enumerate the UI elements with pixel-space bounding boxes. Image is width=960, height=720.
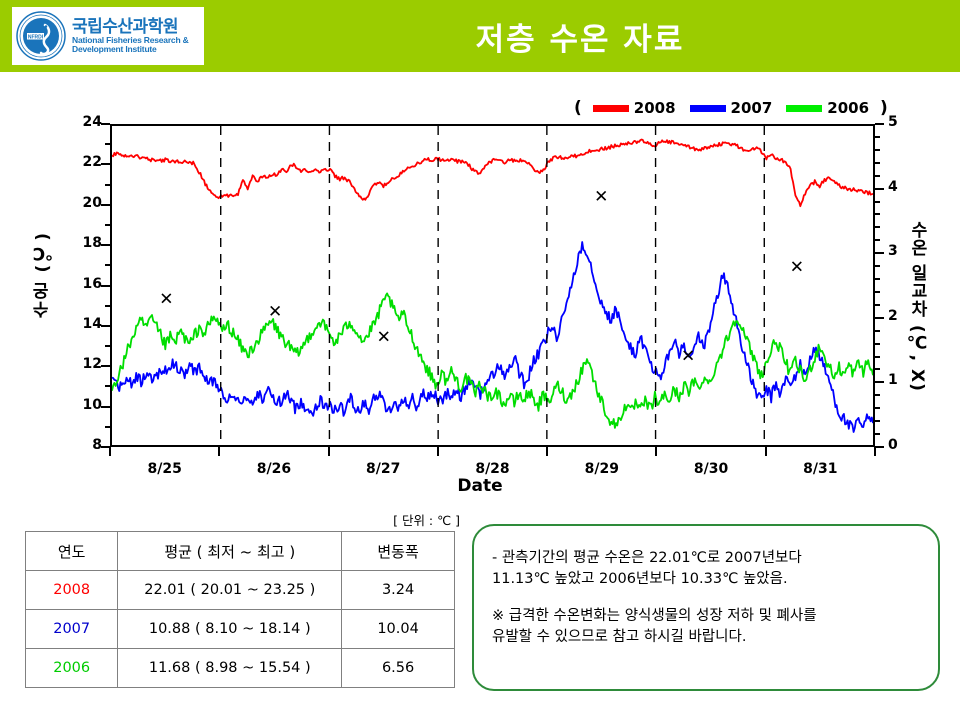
chart: ( 2008 2007 2006 ) 수온 (℃) 수온 일교차 (℃, X) … (0, 76, 960, 506)
legend-open-paren: ( (574, 98, 582, 118)
x-tick-8/25: 8/25 (140, 461, 190, 477)
axis-tick (101, 325, 110, 327)
axis-tick (875, 123, 884, 125)
axis-tick (101, 244, 110, 246)
axis-tick (105, 224, 110, 226)
axis-tick (875, 149, 880, 151)
axis-tick (875, 291, 880, 293)
axis-tick (875, 213, 880, 215)
chart-legend: ( 2008 2007 2006 ) (570, 98, 892, 118)
y-tick-left-16: 16 (72, 276, 102, 292)
legend-swatch-2008 (593, 105, 629, 112)
axis-tick (875, 446, 884, 448)
daily-range-marker: ✕ (268, 302, 282, 322)
page-title: 저층 수온 자료 (230, 0, 930, 72)
x-tick-8/27: 8/27 (358, 461, 408, 477)
x-tick-8/26: 8/26 (249, 461, 299, 477)
table-header-year: 연도 (26, 532, 118, 571)
table-unit-note: [ 단위 : ℃ ] (250, 510, 460, 529)
note-paragraph-2: ※ 급격한 수온변화는 양식생물의 성장 저하 및 폐사를 유발할 수 있으므로… (492, 606, 924, 648)
axis-tick (105, 143, 110, 145)
daily-range-marker: ✕ (594, 187, 608, 207)
legend-label-2008: 2008 (634, 99, 676, 117)
table-header-mean: 평균 ( 최저 ~ 최고 ) (118, 532, 342, 571)
summary-table: 연도 평균 ( 최저 ~ 최고 ) 변동폭 200822.01 ( 20.01 … (25, 531, 455, 688)
legend-item-2008: 2008 (593, 99, 676, 117)
daily-range-marker: ✕ (790, 257, 804, 277)
table-row: 200822.01 ( 20.01 ~ 23.25 )3.24 (26, 571, 455, 610)
y-axis-label-right: 수온 일교차 (℃, X) (905, 221, 930, 392)
logo: NFRDI 국립수산과학원 National Fisheries Researc… (12, 7, 204, 65)
daily-range-marker: ✕ (159, 289, 173, 309)
axis-tick (875, 317, 884, 319)
table-cell-year: 2008 (26, 571, 118, 610)
axis-tick (875, 433, 880, 435)
axis-tick (875, 407, 880, 409)
table-cell-variation: 10.04 (342, 610, 455, 649)
note-box: - 관측기간의 평균 수온은 22.01℃로 2007년보다 11.13℃ 높았… (472, 524, 940, 691)
table-cell-year: 2006 (26, 649, 118, 688)
y-tick-left-14: 14 (72, 316, 102, 332)
y-tick-left-10: 10 (72, 397, 102, 413)
table-row: 200611.68 ( 8.98 ~ 15.54 )6.56 (26, 649, 455, 688)
axis-tick (875, 162, 880, 164)
axis-tick (875, 136, 880, 138)
axis-tick (101, 123, 110, 125)
x-axis-label: Date (0, 476, 960, 496)
legend-label-2007: 2007 (731, 99, 773, 117)
legend-item-2007: 2007 (690, 99, 773, 117)
axis-tick (875, 188, 884, 190)
y-tick-right-1: 1 (888, 372, 908, 388)
axis-tick (875, 330, 880, 332)
daily-range-marker: ✕ (377, 328, 391, 348)
axis-tick (218, 447, 220, 456)
axis-tick (875, 175, 880, 177)
table-cell-mean-range: 11.68 ( 8.98 ~ 15.54 ) (118, 649, 342, 688)
axis-tick (875, 226, 880, 228)
axis-tick (875, 356, 880, 358)
axis-tick (109, 447, 111, 456)
axis-tick (546, 447, 548, 456)
y-tick-right-2: 2 (888, 308, 908, 324)
axis-tick (105, 184, 110, 186)
legend-swatch-2007 (690, 105, 726, 112)
x-tick-8/30: 8/30 (686, 461, 736, 477)
plot-frame: ✕✕✕✕✕✕ (110, 124, 875, 447)
x-tick-8/31: 8/31 (795, 461, 845, 477)
series-line-2006 (112, 293, 873, 428)
y-tick-left-8: 8 (72, 437, 102, 453)
daily-range-marker: ✕ (681, 347, 695, 367)
y-tick-left-22: 22 (72, 154, 102, 170)
axis-tick (875, 201, 880, 203)
table-cell-mean-range: 22.01 ( 20.01 ~ 23.25 ) (118, 571, 342, 610)
x-tick-8/28: 8/28 (468, 461, 518, 477)
series-line-2007 (112, 242, 873, 432)
axis-tick (101, 406, 110, 408)
y-tick-right-4: 4 (888, 179, 908, 195)
axis-tick (875, 278, 880, 280)
table-cell-mean-range: 10.88 ( 8.10 ~ 18.14 ) (118, 610, 342, 649)
axis-tick (875, 343, 880, 345)
legend-label-2006: 2006 (827, 99, 869, 117)
axis-tick (101, 365, 110, 367)
svg-text:NFRDI: NFRDI (28, 34, 44, 40)
legend-swatch-2006 (786, 105, 822, 112)
nfrdi-emblem-icon: NFRDI (16, 11, 66, 61)
axis-tick (875, 381, 884, 383)
axis-tick (875, 368, 880, 370)
note-paragraph-1: - 관측기간의 평균 수온은 22.01℃로 2007년보다 11.13℃ 높았… (492, 548, 924, 590)
plot-canvas: ✕✕✕✕✕✕ (112, 126, 873, 445)
axis-tick (875, 394, 880, 396)
legend-close-paren: ) (880, 98, 888, 118)
x-tick-8/29: 8/29 (577, 461, 627, 477)
axis-tick (105, 385, 110, 387)
table-header-row: 연도 평균 ( 최저 ~ 최고 ) 변동폭 (26, 532, 455, 571)
y-tick-right-3: 3 (888, 243, 908, 259)
axis-tick (105, 345, 110, 347)
y-tick-left-18: 18 (72, 235, 102, 251)
axis-tick (105, 264, 110, 266)
axis-tick (655, 447, 657, 456)
axis-tick (328, 447, 330, 456)
series-line-2008 (112, 140, 873, 207)
table-cell-year: 2007 (26, 610, 118, 649)
y-tick-left-20: 20 (72, 195, 102, 211)
header-band: NFRDI 국립수산과학원 National Fisheries Researc… (0, 0, 960, 72)
table-cell-variation: 3.24 (342, 571, 455, 610)
axis-tick (875, 420, 880, 422)
y-tick-left-24: 24 (72, 114, 102, 130)
y-axis-label-left: 수온 (℃) (30, 231, 55, 318)
logo-name-english-line2: Development Institute (72, 45, 189, 54)
axis-tick (875, 239, 880, 241)
table-header-range: 변동폭 (342, 532, 455, 571)
axis-tick (875, 304, 880, 306)
axis-tick (874, 447, 876, 456)
axis-tick (101, 163, 110, 165)
table-row: 200710.88 ( 8.10 ~ 18.14 )10.04 (26, 610, 455, 649)
legend-item-2006: 2006 (786, 99, 869, 117)
y-tick-left-12: 12 (72, 356, 102, 372)
axis-tick (765, 447, 767, 456)
table-cell-variation: 6.56 (342, 649, 455, 688)
y-tick-right-5: 5 (888, 114, 908, 130)
axis-tick (875, 265, 880, 267)
axis-tick (101, 285, 110, 287)
logo-name-korean: 국립수산과학원 (72, 18, 189, 36)
y-tick-right-0: 0 (888, 437, 908, 453)
axis-tick (437, 447, 439, 456)
axis-tick (875, 252, 884, 254)
axis-tick (105, 426, 110, 428)
axis-tick (105, 305, 110, 307)
axis-tick (101, 204, 110, 206)
